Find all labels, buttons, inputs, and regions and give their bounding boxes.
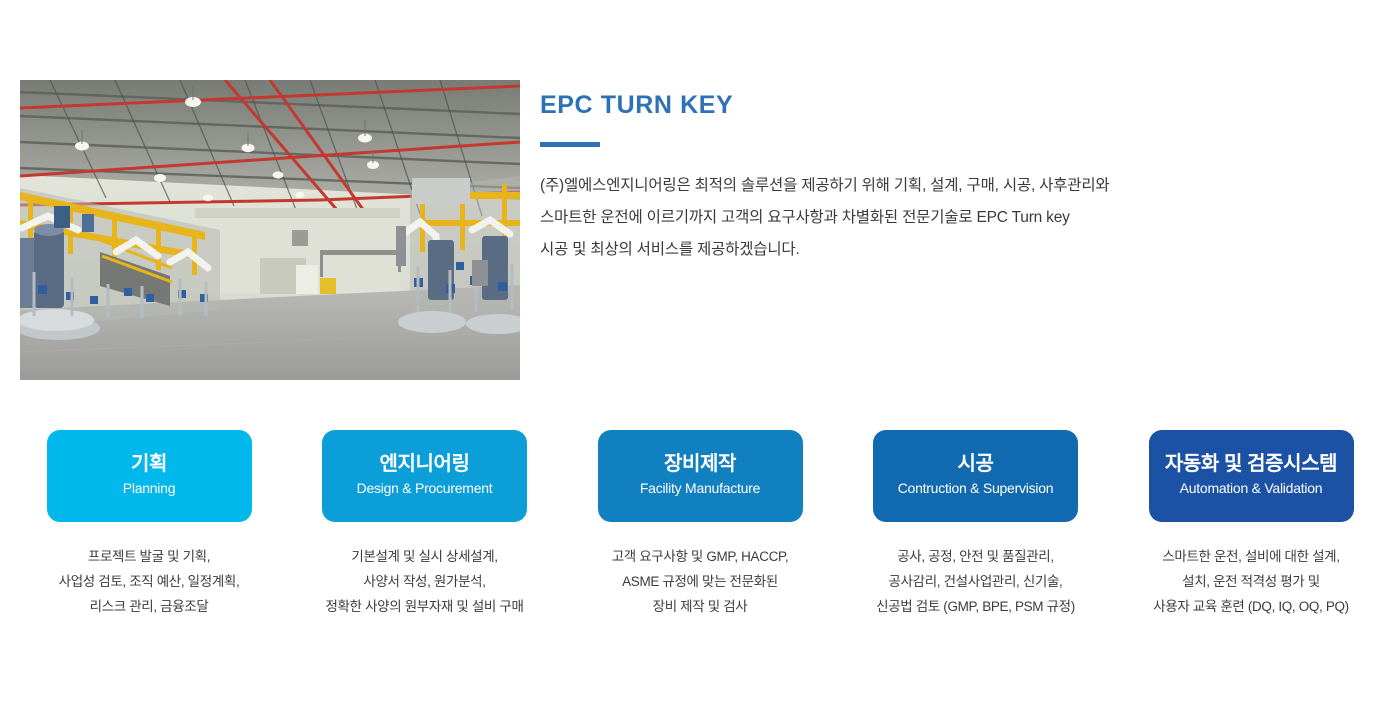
process-step-engineering: 엔지니어링 Design & Procurement 기본설계 및 실시 상세설… bbox=[296, 430, 554, 619]
step-description: 기본설계 및 실시 상세설계, 사양서 작성, 원가분석, 정확한 사양의 원부… bbox=[325, 544, 523, 619]
step-description: 공사, 공정, 안전 및 품질관리, 공사감리, 건설사업관리, 신기술, 신공… bbox=[876, 544, 1075, 619]
step-description: 스마트한 운전, 설비에 대한 설계, 설치, 운전 적격성 평가 및 사용자 … bbox=[1153, 544, 1349, 619]
process-step-automation-validation: 자동화 및 검증시스템 Automation & Validation 스마트한… bbox=[1122, 430, 1380, 619]
step-title-ko: 자동화 및 검증시스템 bbox=[1165, 453, 1337, 476]
intro-block: EPC TURN KEY (주)엘에스엔지니어링은 최적의 솔루션을 제공하기 … bbox=[540, 92, 1330, 266]
process-step-facility-manufacture: 장비제작 Facility Manufacture 고객 요구사항 및 GMP,… bbox=[571, 430, 829, 619]
step-title-en: Design & Procurement bbox=[357, 480, 493, 497]
step-card-automation-validation[interactable]: 자동화 및 검증시스템 Automation & Validation bbox=[1149, 430, 1354, 522]
step-title-ko: 기획 bbox=[131, 453, 167, 476]
title-accent-rule bbox=[540, 142, 600, 147]
step-title-en: Automation & Validation bbox=[1180, 480, 1323, 497]
step-description: 프로젝트 발굴 및 기획, 사업성 검토, 조직 예산, 일정계획, 리스크 관… bbox=[59, 544, 240, 619]
step-title-en: Facility Manufacture bbox=[640, 480, 760, 497]
step-title-ko: 시공 bbox=[958, 453, 994, 476]
step-card-construction[interactable]: 시공 Contruction & Supervision bbox=[873, 430, 1078, 522]
page-title: EPC TURN KEY bbox=[540, 92, 1330, 120]
process-step-planning: 기획 Planning 프로젝트 발굴 및 기획, 사업성 검토, 조직 예산,… bbox=[20, 430, 278, 619]
step-title-en: Contruction & Supervision bbox=[898, 480, 1054, 497]
step-card-engineering[interactable]: 엔지니어링 Design & Procurement bbox=[322, 430, 527, 522]
step-card-planning[interactable]: 기획 Planning bbox=[47, 430, 252, 522]
step-title-en: Planning bbox=[123, 480, 176, 497]
step-title-ko: 장비제작 bbox=[664, 453, 736, 476]
process-steps: 기획 Planning 프로젝트 발굴 및 기획, 사업성 검토, 조직 예산,… bbox=[20, 430, 1380, 619]
step-description: 고객 요구사항 및 GMP, HACCP, ASME 규정에 맞는 전문화된 장… bbox=[612, 544, 789, 619]
step-card-facility-manufacture[interactable]: 장비제작 Facility Manufacture bbox=[598, 430, 803, 522]
intro-paragraph: (주)엘에스엔지니어링은 최적의 솔루션을 제공하기 위해 기획, 설계, 구매… bbox=[540, 170, 1330, 266]
step-title-ko: 엔지니어링 bbox=[380, 453, 470, 476]
factory-interior-illustration bbox=[20, 80, 520, 380]
hero-image bbox=[20, 80, 520, 380]
process-step-construction: 시공 Contruction & Supervision 공사, 공정, 안전 … bbox=[847, 430, 1105, 619]
